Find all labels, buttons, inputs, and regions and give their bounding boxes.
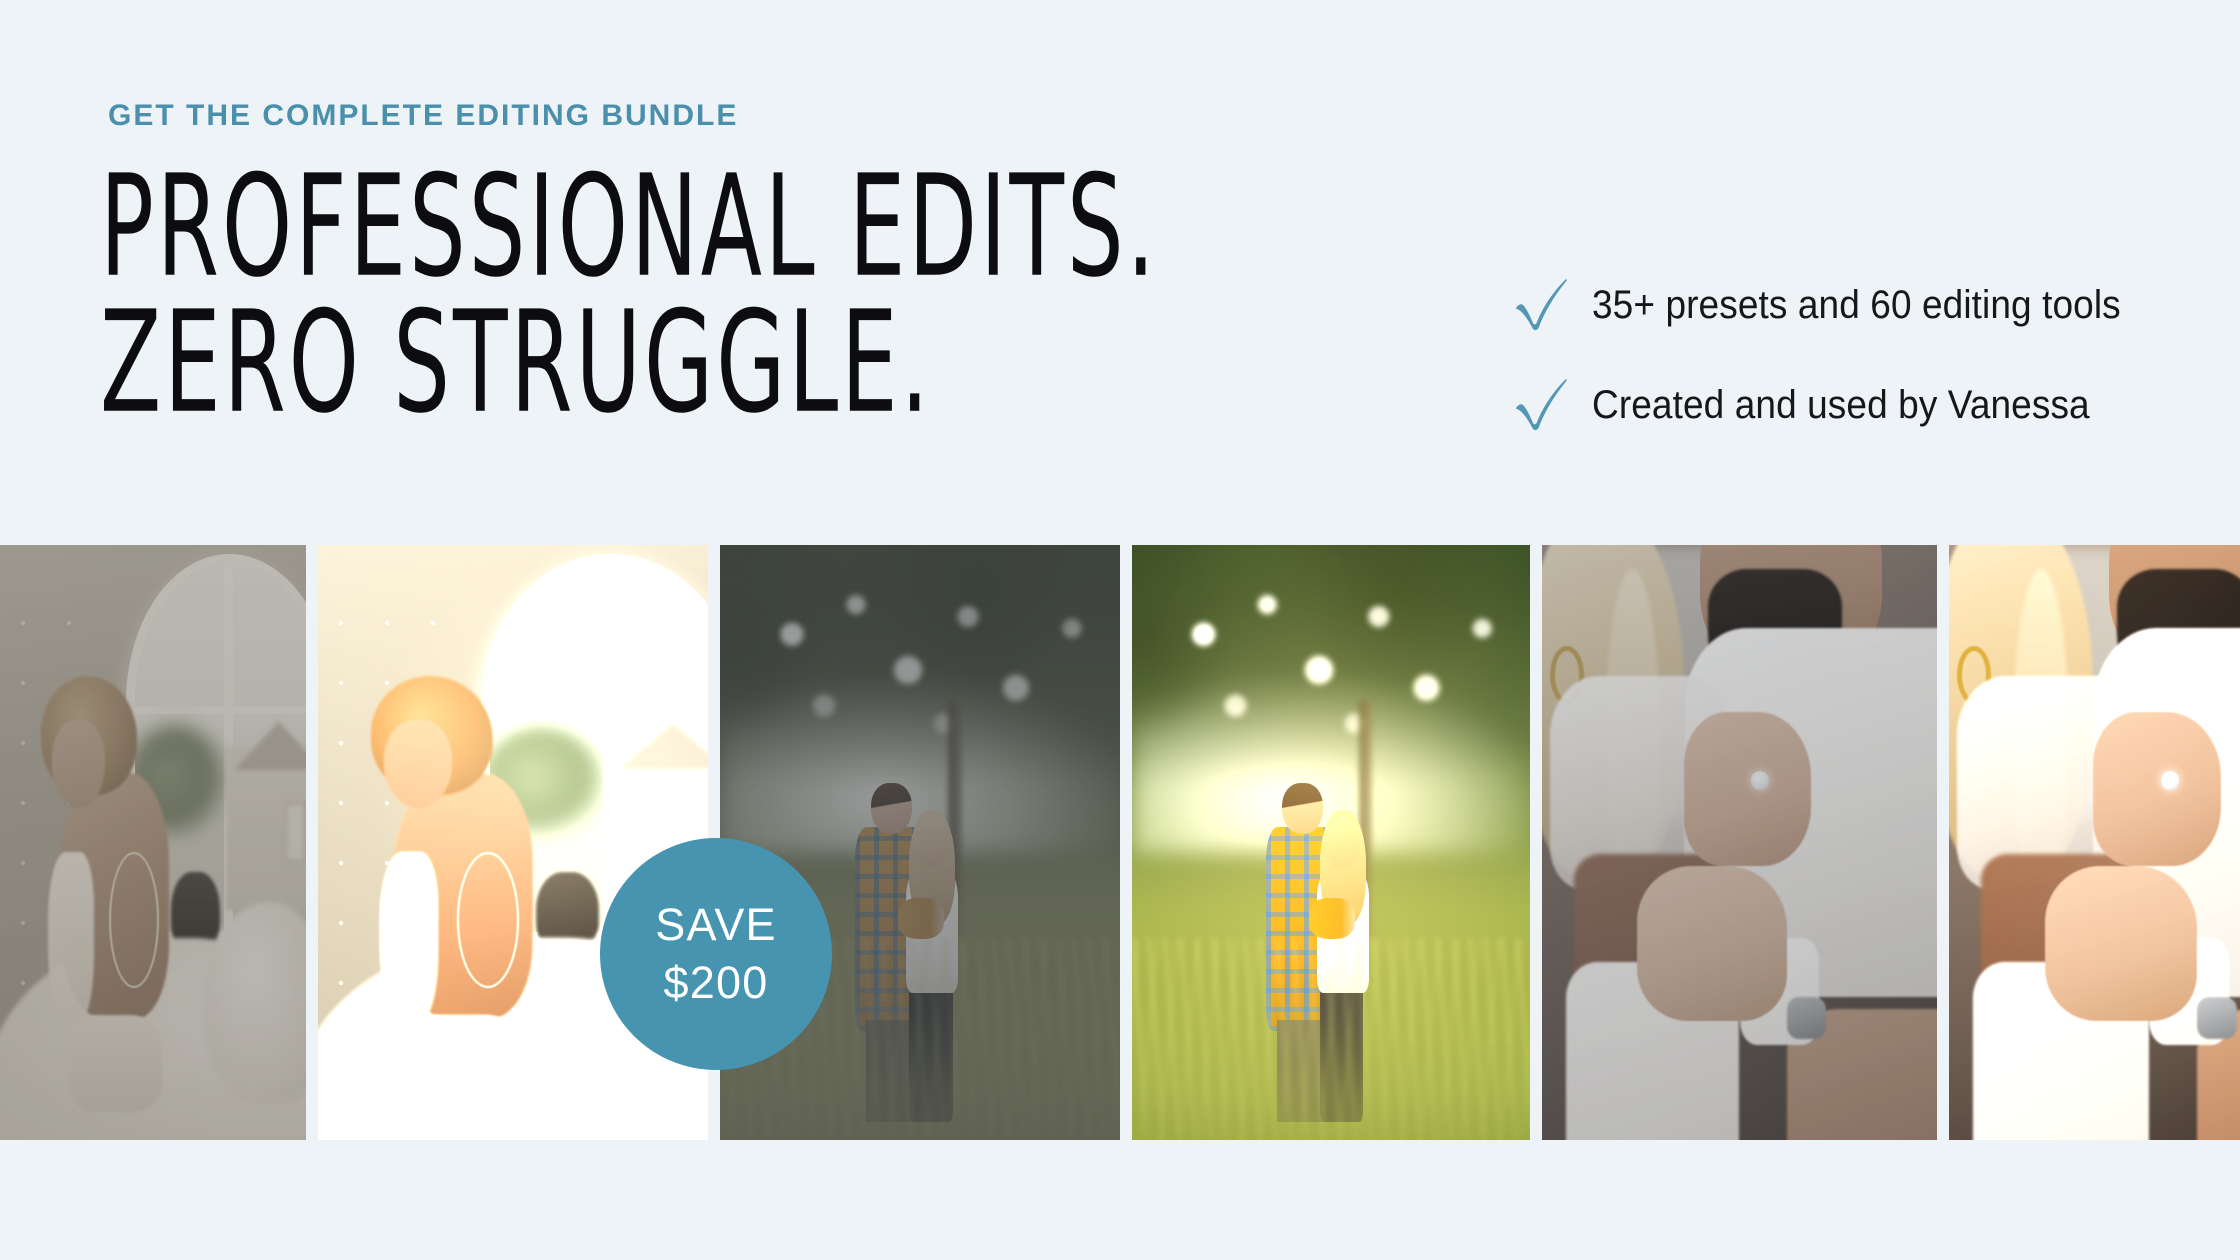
save-badge-label: SAVE: [655, 896, 777, 955]
photo-field-before: [720, 545, 1120, 1140]
wristwatch: [2197, 997, 2237, 1039]
hand-with-ring: [1684, 712, 1810, 867]
check-icon: [1508, 272, 1592, 338]
face: [384, 720, 452, 808]
foreground-blur: [1132, 985, 1530, 1140]
feature-text: Created and used by Vanessa: [1592, 382, 2090, 427]
photo-ring-after: [1949, 545, 2240, 1140]
womans-face: [1323, 817, 1361, 868]
seated-woman: [357, 676, 583, 1116]
lower-hand: [1637, 866, 1787, 1021]
lace-bodice: [380, 852, 439, 1028]
headline-line-2: ZERO STRUGGLE.: [100, 276, 1388, 453]
eyebrow-text: GET THE COMPLETE EDITING BUNDLE: [108, 101, 738, 131]
lower-hand: [2045, 866, 2197, 1021]
gallery-panel-field-after: [1132, 545, 1530, 1140]
list-item: 35+ presets and 60 editing tools: [1508, 255, 2228, 355]
gallery-panel-field-before: [720, 545, 1120, 1140]
photo-boudoir-after: [318, 545, 708, 1140]
save-badge-amount: $200: [664, 954, 769, 1013]
before-after-gallery: [0, 545, 2240, 1140]
back-tie: [457, 852, 520, 988]
promo-banner: GET THE COMPLETE EDITING BUNDLE PROFESSI…: [0, 0, 2240, 1260]
check-icon: [1508, 372, 1592, 438]
embracing-arm: [1309, 898, 1355, 939]
feature-text: 35+ presets and 60 editing tools: [1592, 282, 2121, 327]
photo-field-after: [1132, 545, 1530, 1140]
photo-ring-before: [1542, 545, 1937, 1140]
seated-woman: [31, 676, 208, 1116]
shorts: [407, 1015, 525, 1112]
list-item: Created and used by Vanessa: [1508, 355, 2228, 455]
gallery-panel-boudoir-before: [0, 545, 306, 1140]
hand-with-ring: [2093, 712, 2221, 867]
engagement-ring: [2161, 771, 2179, 790]
engagement-ring: [1751, 771, 1768, 790]
back-tie: [109, 852, 159, 988]
mans-head: [871, 783, 912, 834]
neighbor-house: [226, 747, 306, 909]
feature-list: 35+ presets and 60 editing tools Created…: [1508, 255, 2228, 455]
shorts: [70, 1015, 162, 1112]
gallery-panel-ring-before: [1542, 545, 1937, 1140]
wristwatch: [1787, 997, 1827, 1039]
womans-face: [912, 817, 950, 868]
gallery-panel-boudoir-after: [318, 545, 708, 1140]
face: [52, 720, 105, 808]
lace-bodice: [48, 852, 94, 1028]
photo-boudoir-before: [0, 545, 306, 1140]
save-badge[interactable]: SAVE $200: [600, 838, 832, 1070]
gallery-panel-ring-after: [1949, 545, 2240, 1140]
embracing-arm: [898, 898, 944, 939]
house-window: [285, 802, 306, 861]
copy-area: GET THE COMPLETE EDITING BUNDLE PROFESSI…: [0, 0, 2240, 545]
mans-head: [1282, 783, 1323, 834]
page-title: PROFESSIONAL EDITS. ZERO STRUGGLE.: [100, 160, 1500, 432]
